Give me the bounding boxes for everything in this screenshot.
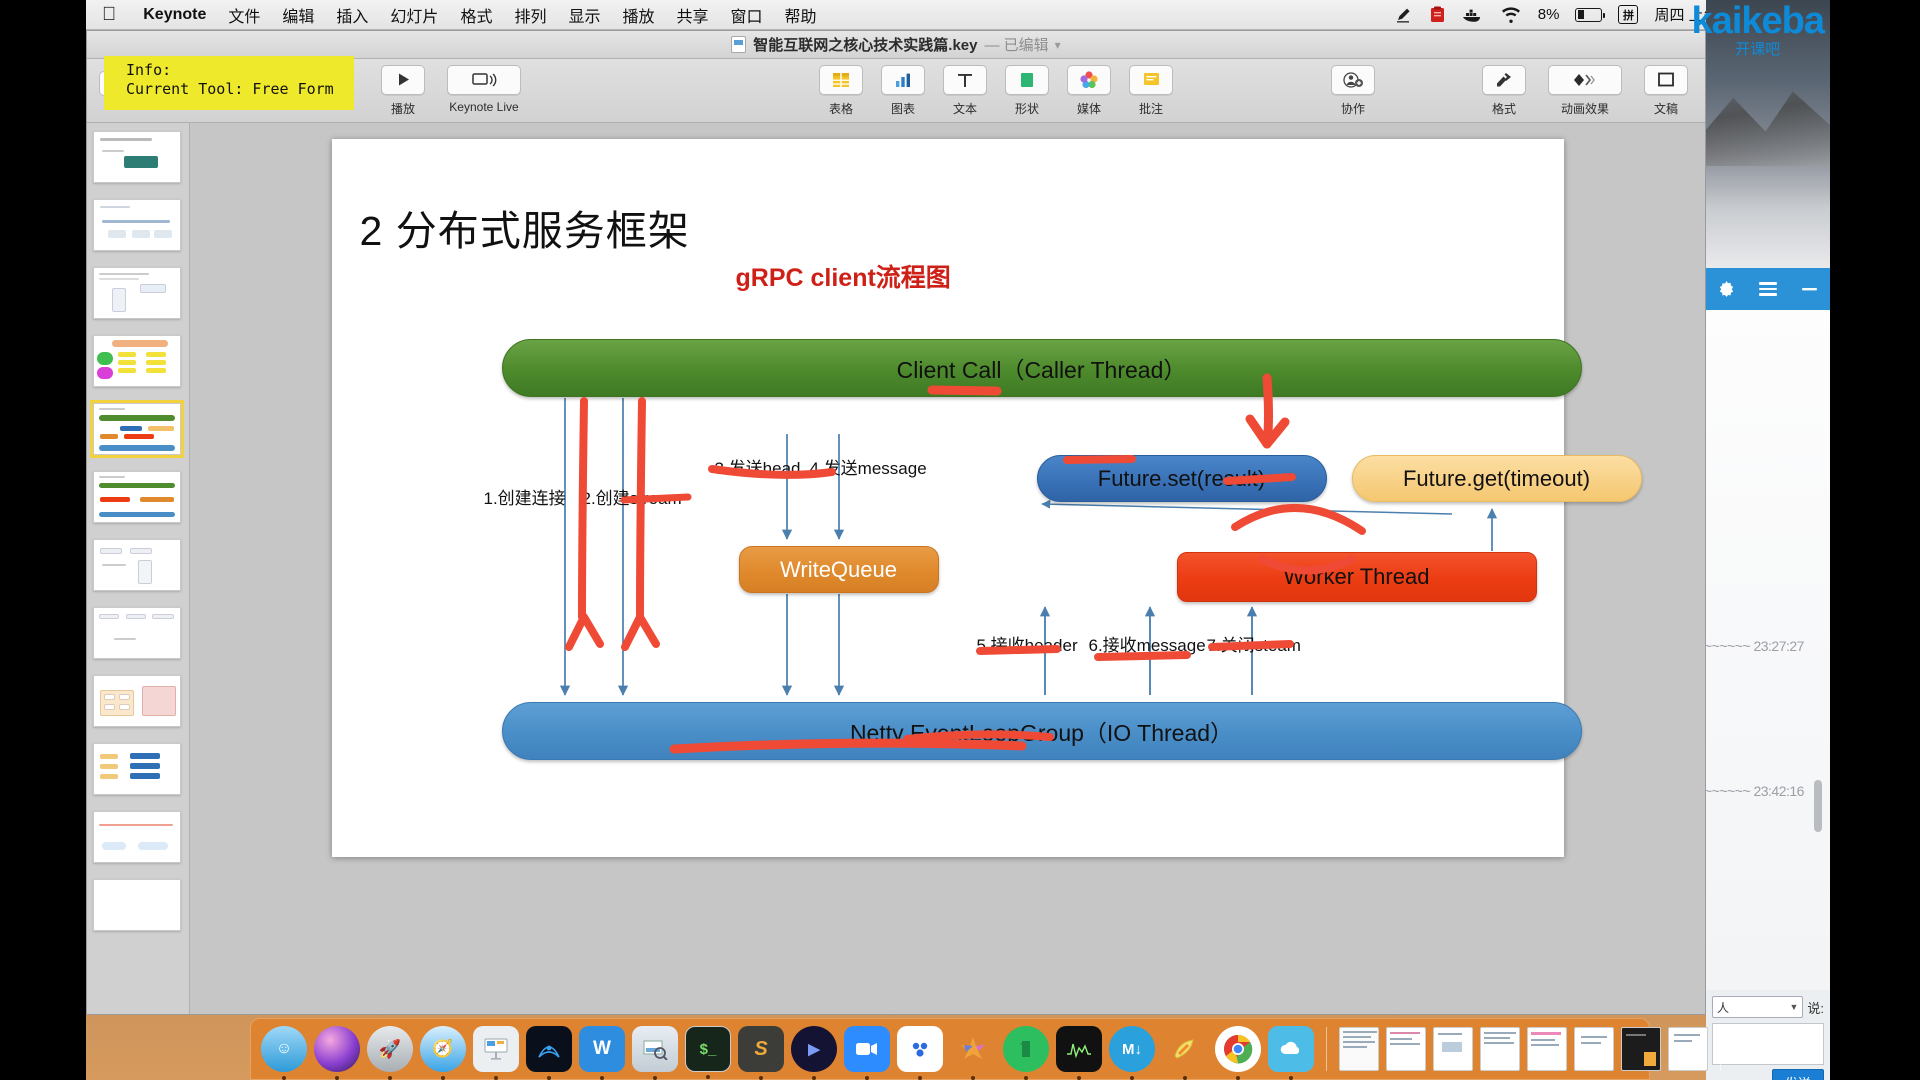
menu-item-insert[interactable]: 插入 xyxy=(325,3,379,27)
dock: ☺ 🚀 🧭 W $_ S ▶ M↓ xyxy=(250,1018,1650,1080)
node-worker-thread[interactable]: Worker Thread xyxy=(1177,552,1537,602)
info-overlay: Info: Current Tool: Free Form xyxy=(104,56,354,110)
list-item[interactable] xyxy=(93,539,181,591)
list-item: ~~~~~~ 23:42:16 xyxy=(1706,783,1810,799)
menu-item-window[interactable]: 窗口 xyxy=(720,3,774,27)
minimized-window[interactable] xyxy=(1668,1027,1708,1071)
document-button-label: 文稿 xyxy=(1654,100,1678,117)
message-time: 23:42:16 xyxy=(1753,783,1804,799)
table-button-label: 表格 xyxy=(829,100,853,117)
launchpad-icon[interactable]: 🚀 xyxy=(367,1026,413,1072)
menu-item-edit[interactable]: 编辑 xyxy=(271,3,325,27)
iina-icon[interactable]: ▶ xyxy=(791,1026,837,1072)
panel-toolbar xyxy=(1706,268,1830,310)
step-label-7: 7.关闭steam xyxy=(1207,631,1301,656)
toolbar-left-group: 播放 Keynote Live xyxy=(372,65,534,117)
minimized-window[interactable] xyxy=(1621,1027,1661,1071)
step-label-2: 2.创建stream xyxy=(582,484,682,509)
logo-text: kaikeba xyxy=(1692,2,1824,40)
list-item[interactable] xyxy=(93,131,181,183)
battery-icon[interactable] xyxy=(1575,8,1602,22)
comment-icon xyxy=(1129,65,1173,95)
chart-icon xyxy=(881,65,925,95)
list-item[interactable] xyxy=(93,879,181,931)
minimized-window[interactable] xyxy=(1480,1027,1520,1071)
slide-subtitle: gRPC client流程图 xyxy=(736,258,951,294)
toolbar-center-group: 表格 图表 文本 形状 xyxy=(810,65,1182,117)
finder-icon[interactable]: ☺ xyxy=(261,1026,307,1072)
play-button[interactable]: 播放 xyxy=(374,65,432,117)
activity-monitor-icon[interactable] xyxy=(1056,1026,1102,1072)
list-item[interactable] xyxy=(93,607,181,659)
apple-icon[interactable]:  xyxy=(102,5,116,24)
menu-item-share[interactable]: 共享 xyxy=(666,3,720,27)
list-item-selected[interactable] xyxy=(93,403,181,455)
list-item[interactable] xyxy=(93,267,181,319)
logo-subtext: 开课吧 xyxy=(1735,42,1780,57)
node-write-queue[interactable]: WriteQueue xyxy=(739,546,939,593)
send-button[interactable]: 发送 xyxy=(1772,1069,1824,1080)
info-overlay-line1: Info: xyxy=(126,61,354,80)
list-item: ~~~~~~ 23:27:27 xyxy=(1706,638,1810,654)
preview-icon[interactable] xyxy=(632,1026,678,1072)
page-title: 2 分布式服务框架 xyxy=(360,197,690,257)
chat-composer: 人 ▼ 说: 发送 xyxy=(1706,990,1830,1080)
table-button[interactable]: 表格 xyxy=(812,65,870,117)
list-item[interactable] xyxy=(93,743,181,795)
minimized-window[interactable] xyxy=(1527,1027,1567,1071)
screen:  Keynote 文件 编辑 插入 幻灯片 格式 排列 显示 播放 共享 窗口… xyxy=(0,0,1920,1080)
message-squiggle: ~~~~~~ xyxy=(1706,783,1750,799)
composer-row: 人 ▼ 说: xyxy=(1712,996,1824,1018)
keynote-document-icon xyxy=(731,36,746,53)
minimized-window[interactable] xyxy=(1433,1027,1473,1071)
terminal-icon[interactable]: $_ xyxy=(685,1026,731,1072)
table-icon xyxy=(819,65,863,95)
kaikeba-logo: kaikeba 开课吧 xyxy=(1692,2,1824,57)
media-button[interactable]: 媒体 xyxy=(1060,65,1118,117)
step-label-3: 3.发送head xyxy=(715,454,801,479)
menu-item-file[interactable]: 文件 xyxy=(217,3,271,27)
safari-icon[interactable]: 🧭 xyxy=(420,1026,466,1072)
step-label-1: 1.创建连接 xyxy=(484,484,566,509)
media-icon xyxy=(1067,65,1111,95)
menu-item-format[interactable]: 格式 xyxy=(449,3,503,27)
list-item[interactable] xyxy=(93,471,181,523)
window-body: 2 分布式服务框架 gRPC client流程图 xyxy=(87,123,1705,1015)
menu-item-play[interactable]: 播放 xyxy=(611,3,665,27)
animate-button[interactable]: 动画效果 xyxy=(1537,65,1633,117)
format-button-label: 格式 xyxy=(1492,100,1516,117)
media-button-label: 媒体 xyxy=(1077,100,1101,117)
dock-divider xyxy=(1720,1027,1721,1071)
cloud-icon[interactable] xyxy=(1268,1026,1314,1072)
list-item[interactable] xyxy=(93,199,181,251)
collaborate-button-label: 协作 xyxy=(1341,100,1365,117)
list-item[interactable] xyxy=(93,811,181,863)
node-label: Future.set(result) xyxy=(1098,466,1266,492)
chart-button[interactable]: 图表 xyxy=(874,65,932,117)
node-client-call[interactable]: Client Call（Caller Thread） xyxy=(502,339,1582,397)
document-button[interactable]: 文稿 xyxy=(1637,65,1695,117)
toolbar-collab-group: 协作 xyxy=(1322,65,1384,117)
node-label: Netty EventLoopGroup（IO Thread） xyxy=(850,714,1233,748)
pencil-icon[interactable] xyxy=(1395,6,1413,24)
zoom-icon[interactable] xyxy=(844,1026,890,1072)
document-icon xyxy=(1644,65,1688,95)
menu-item-view[interactable]: 显示 xyxy=(557,3,611,27)
play-button-label: 播放 xyxy=(391,100,415,117)
node-label: WriteQueue xyxy=(780,557,897,583)
menu-item-slide[interactable]: 幻灯片 xyxy=(379,3,449,27)
format-brush-icon xyxy=(1482,65,1526,95)
toolbar-right-group: 格式 动画效果 文稿 xyxy=(1473,65,1697,117)
step-label-4: 4.发送message xyxy=(810,454,927,479)
node-label: Future.get(timeout) xyxy=(1403,466,1590,492)
evernote-icon[interactable] xyxy=(1003,1026,1049,1072)
right-bezel xyxy=(1830,0,1920,1080)
shape-icon xyxy=(1005,65,1049,95)
minimize-icon[interactable] xyxy=(1796,276,1822,302)
format-button[interactable]: 格式 xyxy=(1475,65,1533,117)
step-label-5: 5.接收header xyxy=(977,631,1078,656)
animate-button-label: 动画效果 xyxy=(1561,100,1609,117)
message-squiggle: ~~~~~~ xyxy=(1706,638,1750,654)
clipboard-icon[interactable] xyxy=(1429,6,1446,24)
keynote-icon[interactable] xyxy=(473,1026,519,1072)
node-label: Worker Thread xyxy=(1284,564,1430,590)
docker-icon[interactable] xyxy=(1462,7,1484,23)
play-icon xyxy=(381,65,425,95)
shape-button-label: 形状 xyxy=(1015,100,1039,117)
sublime-text-icon[interactable]: S xyxy=(738,1026,784,1072)
chrome-icon[interactable] xyxy=(1215,1026,1261,1072)
message-input[interactable] xyxy=(1712,1023,1824,1065)
dock-divider xyxy=(1326,1027,1327,1071)
slide-navigator[interactable] xyxy=(87,123,190,1015)
recipient-value: 人 xyxy=(1717,999,1729,1016)
list-item[interactable] xyxy=(93,335,181,387)
chevron-down-icon: ▼ xyxy=(1789,1002,1798,1012)
comment-button[interactable]: 批注 xyxy=(1122,65,1180,117)
menu-item-keynote[interactable]: Keynote xyxy=(132,6,217,24)
say-label: 说: xyxy=(1807,998,1824,1017)
info-overlay-line2: Current Tool: Free Form xyxy=(126,80,354,99)
baidu-netdisk-icon[interactable] xyxy=(897,1026,943,1072)
wps-icon[interactable]: W xyxy=(579,1026,625,1072)
siri-icon[interactable] xyxy=(314,1026,360,1072)
text-icon xyxy=(943,65,987,95)
collaborate-icon xyxy=(1331,65,1375,95)
recipient-select[interactable]: 人 ▼ xyxy=(1712,996,1803,1018)
text-button[interactable]: 文本 xyxy=(936,65,994,117)
left-bezel xyxy=(0,0,86,1080)
battery-percent: 8% xyxy=(1538,6,1560,23)
window-title: 智能互联网之核心技术实践篇.key xyxy=(753,34,977,55)
minimized-window[interactable] xyxy=(1574,1027,1614,1071)
collaborate-button[interactable]: 协作 xyxy=(1324,65,1382,117)
node-future-set[interactable]: Future.set(result) xyxy=(1037,455,1327,502)
step-label-6: 6.接收message xyxy=(1089,631,1206,656)
paintbrush-icon[interactable] xyxy=(1162,1026,1208,1072)
window-title-bar: 智能互联网之核心技术实践篇.key — 已编辑 ▾ xyxy=(87,31,1705,59)
keynote-live-label: Keynote Live xyxy=(449,100,518,114)
message-time: 23:27:27 xyxy=(1753,638,1804,654)
node-netty-eventloopgroup[interactable]: Netty EventLoopGroup（IO Thread） xyxy=(502,702,1582,760)
animate-icon xyxy=(1548,65,1622,95)
hamburger-lines xyxy=(1759,279,1777,299)
message-list[interactable]: ~~~~~~ 23:27:27 ~~~~~~ 23:42:16 xyxy=(1706,310,1830,990)
markdown-icon[interactable]: M↓ xyxy=(1109,1026,1155,1072)
node-label: Client Call（Caller Thread） xyxy=(897,351,1187,385)
keynote-live-icon xyxy=(447,65,521,95)
text-button-label: 文本 xyxy=(953,100,977,117)
minimized-window[interactable] xyxy=(1339,1027,1379,1071)
keynote-window: 智能互联网之核心技术实践篇.key — 已编辑 ▾ 125% ▾ + 播放 xyxy=(86,30,1706,1015)
gear-icon[interactable] xyxy=(1714,276,1740,302)
minimized-window[interactable] xyxy=(1386,1027,1426,1071)
node-future-get[interactable]: Future.get(timeout) xyxy=(1352,455,1642,502)
comment-button-label: 批注 xyxy=(1139,100,1163,117)
right-side-panel: ~~~~~~ 23:27:27 ~~~~~~ 23:42:16 人 ▼ 说: 发… xyxy=(1706,0,1830,1080)
list-item[interactable] xyxy=(93,675,181,727)
menu-bar:  Keynote 文件 编辑 插入 幻灯片 格式 排列 显示 播放 共享 窗口… xyxy=(86,0,1830,30)
menu-item-help[interactable]: 帮助 xyxy=(774,3,828,27)
slide-canvas-area: 2 分布式服务框架 gRPC client流程图 xyxy=(190,123,1705,1015)
photos-icon[interactable] xyxy=(950,1026,996,1072)
menu-icon[interactable] xyxy=(1755,276,1781,302)
menu-item-arrange[interactable]: 排列 xyxy=(503,3,557,27)
slide: 2 分布式服务框架 gRPC client流程图 xyxy=(332,139,1564,857)
shape-button[interactable]: 形状 xyxy=(998,65,1056,117)
wifi-icon[interactable] xyxy=(1500,6,1522,23)
chart-button-label: 图表 xyxy=(891,100,915,117)
window-edited-label: — 已编辑 xyxy=(985,34,1049,55)
scrollbar[interactable] xyxy=(1814,780,1822,832)
input-method-icon[interactable]: 拼 xyxy=(1618,5,1638,24)
processing-icon[interactable] xyxy=(526,1026,572,1072)
chevron-down-icon[interactable]: ▾ xyxy=(1055,38,1061,52)
keynote-live-button[interactable]: Keynote Live xyxy=(436,65,532,114)
